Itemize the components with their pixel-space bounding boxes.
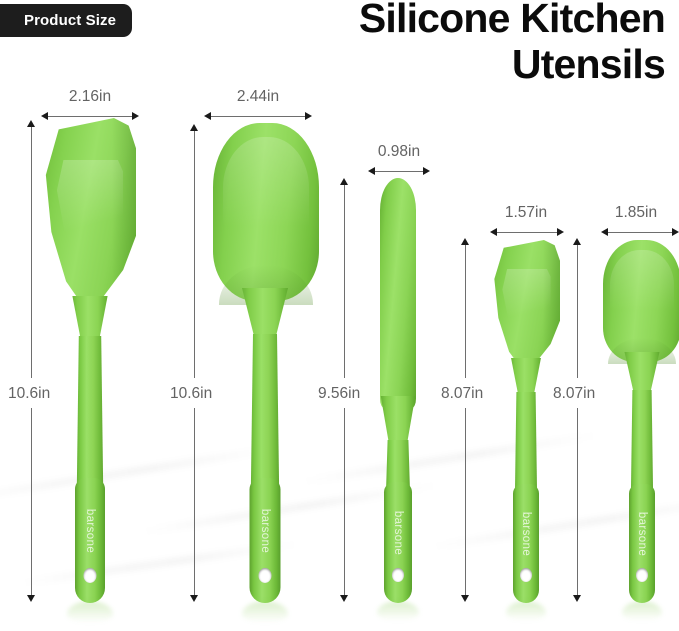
width-arrow-small-spoon-spatula (601, 228, 679, 237)
height-arrow-large-spoon-spatula (190, 124, 199, 602)
utensil-small-spatula: barsone (460, 0, 580, 631)
width-label-large-spatula: 2.16in (69, 88, 111, 106)
width-label-small-spatula: 1.57in (505, 204, 547, 222)
spatula-head (493, 240, 560, 370)
handle-shaft (514, 392, 538, 492)
width-arrow-jar-spatula (368, 167, 430, 176)
hanging-hole (84, 568, 97, 583)
surface-reflection (622, 601, 662, 621)
height-arrow-large-spatula (27, 120, 36, 602)
product-size-infographic: Product Size Silicone Kitchen Utensils b… (0, 0, 679, 631)
hanging-hole (392, 568, 404, 582)
height-arrow-small-spoon-spatula (573, 238, 582, 602)
spoon-head (213, 123, 319, 301)
surface-reflection (506, 601, 546, 621)
height-label-large-spoon-spatula: 10.6in (170, 385, 212, 403)
utensil-small-spoon-spatula: barsone (580, 0, 679, 631)
brand-logo: barsone (259, 509, 271, 553)
hanging-hole (259, 568, 272, 583)
hanging-hole (636, 568, 648, 582)
height-label-small-spatula: 8.07in (441, 385, 483, 403)
width-arrow-large-spoon-spatula (204, 112, 312, 121)
height-label-small-spoon-spatula: 8.07in (553, 385, 595, 403)
width-label-large-spoon-spatula: 2.44in (237, 88, 279, 106)
height-arrow-small-spatula (461, 238, 470, 602)
handle-shaft (250, 334, 280, 486)
height-label-jar-spatula: 9.56in (318, 385, 360, 403)
brand-logo: barsone (520, 512, 532, 556)
brand-logo: barsone (392, 511, 404, 555)
handle-neck (70, 296, 110, 342)
handle-shaft (76, 336, 104, 486)
handle-neck (240, 288, 290, 340)
height-label-large-spatula: 10.6in (8, 385, 50, 403)
surface-reflection (377, 601, 419, 621)
surface-reflection (67, 601, 113, 623)
handle-shaft (630, 390, 654, 490)
hanging-hole (520, 568, 532, 582)
handle-neck (623, 352, 661, 396)
utensil-jar-spatula: barsone (350, 0, 460, 631)
brand-logo: barsone (636, 512, 648, 556)
width-arrow-large-spatula (41, 112, 139, 121)
handle-neck (380, 396, 416, 446)
width-label-small-spoon-spatula: 1.85in (615, 204, 657, 222)
brand-logo: barsone (84, 509, 96, 553)
width-arrow-small-spatula (490, 228, 564, 237)
jar-spatula-head (380, 178, 416, 408)
width-label-jar-spatula: 0.98in (378, 143, 420, 161)
spatula-head (44, 118, 136, 308)
surface-reflection (242, 601, 288, 623)
spoon-head (603, 240, 679, 362)
